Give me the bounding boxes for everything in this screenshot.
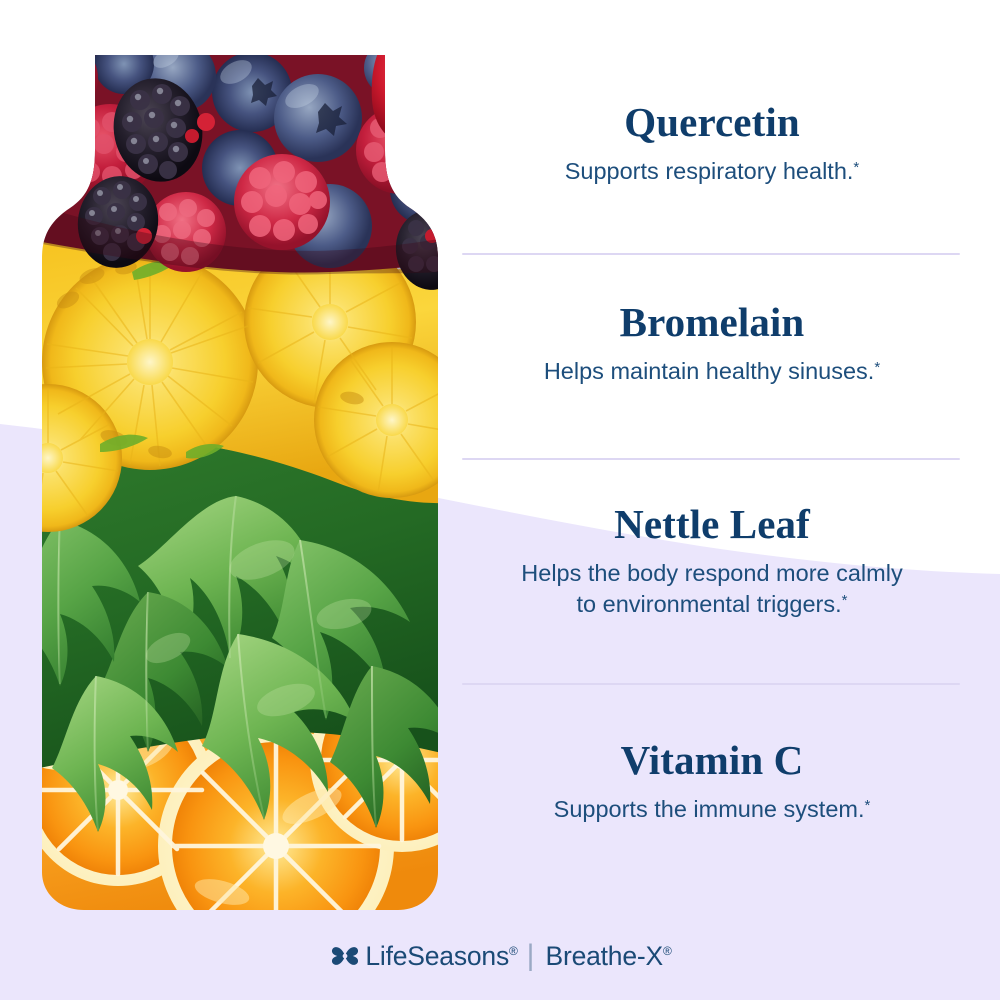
ingredient-description-line-1: Helps the body respond more calmly bbox=[521, 560, 902, 586]
ingredient-block-bromelain: Bromelain Helps maintain healthy sinuses… bbox=[462, 300, 962, 387]
ingredient-title-bromelain: Bromelain bbox=[462, 300, 962, 346]
ingredient-title-quercetin: Quercetin bbox=[462, 100, 962, 146]
brand-registered-mark: ® bbox=[509, 944, 518, 958]
footer-separator: | bbox=[527, 939, 535, 973]
brand-name-text: LifeSeasons bbox=[365, 941, 509, 971]
strawberry bbox=[372, 29, 468, 145]
footnote-asterisk: * bbox=[842, 592, 848, 609]
ingredient-block-vitamin-c: Vitamin C Supports the immune system.* bbox=[462, 738, 962, 825]
ingredient-divider-1 bbox=[462, 253, 960, 255]
product-name-text: Breathe-X bbox=[545, 941, 663, 971]
footnote-asterisk: * bbox=[853, 159, 859, 176]
ingredient-list: Quercetin Supports respiratory health.* … bbox=[462, 0, 962, 920]
ingredient-title-nettle-leaf: Nettle Leaf bbox=[462, 502, 962, 548]
ingredient-description-nettle-leaf: Helps the body respond more calmly to en… bbox=[462, 558, 962, 620]
footnote-asterisk: * bbox=[865, 797, 871, 814]
brand-footer: LifeSeasons® | Breathe-X® bbox=[0, 930, 1000, 982]
ingredient-description-text: Supports respiratory health. bbox=[565, 158, 854, 184]
ingredient-description-vitamin-c: Supports the immune system.* bbox=[462, 794, 962, 825]
ingredient-divider-2 bbox=[462, 458, 960, 460]
footnote-asterisk: * bbox=[874, 359, 880, 376]
product-ingredient-infographic: Quercetin Supports respiratory health.* … bbox=[0, 0, 1000, 1000]
pinwheel-leaf-icon bbox=[328, 939, 362, 973]
ingredient-title-vitamin-c: Vitamin C bbox=[462, 738, 962, 784]
ingredient-divider-3 bbox=[462, 683, 960, 685]
ingredient-description-bromelain: Helps maintain healthy sinuses.* bbox=[462, 356, 962, 387]
ingredient-description-quercetin: Supports respiratory health.* bbox=[462, 156, 962, 187]
ingredient-block-nettle-leaf: Nettle Leaf Helps the body respond more … bbox=[462, 502, 962, 620]
ingredient-description-text: Supports the immune system. bbox=[554, 796, 865, 822]
ingredient-block-quercetin: Quercetin Supports respiratory health.* bbox=[462, 100, 962, 187]
product-name: Breathe-X® bbox=[545, 941, 671, 972]
supplement-bottle-graphic bbox=[0, 0, 500, 1000]
ingredient-description-text: Helps maintain healthy sinuses. bbox=[544, 358, 874, 384]
product-registered-mark: ® bbox=[663, 944, 672, 958]
brand-name: LifeSeasons® bbox=[365, 941, 517, 972]
ingredient-description-line-2: to environmental triggers. bbox=[577, 591, 842, 617]
